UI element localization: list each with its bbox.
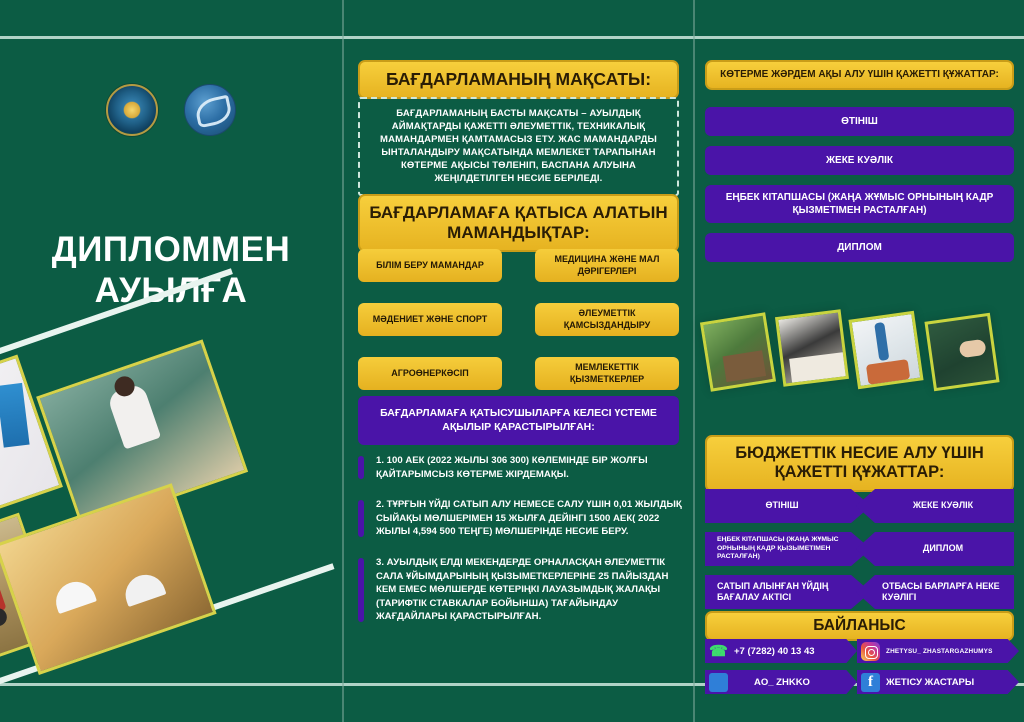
credit-doc-right: ДИПЛОМ <box>856 532 1014 566</box>
bullet-marker <box>358 558 364 622</box>
list-item: 1. 100 АЕК (2022 ЖЫЛЫ 306 300) КӨЛЕМІНДЕ… <box>358 454 683 481</box>
profession-chip: МЕДИЦИНА ЖӘНЕ МАЛ ДӘРІГЕРЛЕРІ <box>535 249 679 282</box>
list-item: ДИПЛОМ <box>705 233 1014 262</box>
cover-photo-collage <box>0 280 342 722</box>
contact-label: ЖЕТІСУ ЖАСТАРЫ <box>886 677 974 688</box>
table-row: ЕҢБЕК КІТАПШАСЫ (ЖАҢА ЖҰМЫС ОРНЫНЫҢ КАДР… <box>705 532 1014 566</box>
benefit-text: 3. АУЫЛДЫҚ ЕЛДІ МЕКЕНДЕРДЕ ОРНАЛАСҚАН ӘЛ… <box>376 557 668 622</box>
heading-credit-documents: БЮДЖЕТТІК НЕСИЕ АЛУ ҮШІН ҚАЖЕТТІ ҚҰЖАТТА… <box>705 435 1014 492</box>
kazakhstan-emblem-logo <box>106 84 158 136</box>
profession-chip: ӘЛЕУМЕТТІК ҚАМСЫЗДАНДЫРУ <box>535 303 679 336</box>
profession-chip-grid: БІЛІМ БЕРУ МАМАНДАР МЕДИЦИНА ЖӘНЕ МАЛ ДӘ… <box>358 249 679 390</box>
list-item: 2. ТҰРҒЫН ҮЙДІ САТЫП АЛУ НЕМЕСЕ САЛУ ҮШІ… <box>358 498 683 539</box>
telegram-icon <box>709 673 728 692</box>
benefit-text: 2. ТҰРҒЫН ҮЙДІ САТЫП АЛУ НЕМЕСЕ САЛУ ҮШІ… <box>376 499 682 537</box>
credit-document-grid: ӨТІНІШ ЖЕКЕ КУӘЛІК ЕҢБЕК КІТАПШАСЫ (ЖАҢА… <box>705 489 1014 618</box>
contact-label: ZHETYSU_ ZHASTARGAZHUMYS <box>886 648 993 655</box>
list-item: ЕҢБЕК КІТАПШАСЫ (ЖАҢА ЖҰМЫС ОРНЫНЫҢ КАДР… <box>705 185 1014 223</box>
photo-doctor-writing <box>848 311 923 390</box>
brochure-page: ДИПЛОММЕН АУЫЛҒА БАҒДАРЛАМАНЫҢ МАҚСАТЫ: … <box>0 0 1024 722</box>
zhetysu-region-logo <box>184 84 236 136</box>
bullet-marker <box>358 456 364 479</box>
contact-label: +7 (7282) 40 13 43 <box>734 646 815 657</box>
benefits-list: 1. 100 АЕК (2022 ЖЫЛЫ 306 300) КӨЛЕМІНДЕ… <box>358 454 683 641</box>
credit-doc-right: ОТБАСЫ БАРЛАРҒА НЕКЕ КУӘЛІГІ <box>856 575 1014 609</box>
page-title: ДИПЛОММЕН АУЫЛҒА <box>0 229 342 312</box>
table-row: САТЫП АЛЫНҒАН ҮЙДІҢ БАҒАЛАУ АКТІСІ ОТБАС… <box>705 575 1014 609</box>
list-item: ЖЕКЕ КУӘЛІК <box>705 146 1014 175</box>
contact-telegram[interactable]: AO_ ZHKKO <box>705 670 857 694</box>
credit-doc-right: ЖЕКЕ КУӘЛІК <box>856 489 1014 523</box>
panel-cover: ДИПЛОММЕН АУЫЛҒА <box>0 39 342 683</box>
table-row: ӨТІНІШ ЖЕКЕ КУӘЛІК <box>705 489 1014 523</box>
facebook-icon: f <box>861 673 880 692</box>
credit-doc-left: ЕҢБЕК КІТАПШАСЫ (ЖАҢА ЖҰМЫС ОРНЫНЫҢ КАДР… <box>705 532 871 566</box>
contact-instagram[interactable]: ZHETYSU_ ZHASTARGAZHUMYS <box>857 639 1019 663</box>
photo-construction-workers <box>0 483 217 675</box>
profession-chip: МӘДЕНИЕТ ЖӘНЕ СПОРТ <box>358 303 502 336</box>
panel-documents-contacts: КӨТЕРМЕ ЖӘРДЕМ АҚЫ АЛУ ҮШІН ҚАЖЕТТІ ҚҰЖА… <box>695 39 1024 683</box>
instagram-icon <box>861 642 880 661</box>
list-item: ӨТІНІШ <box>705 107 1014 136</box>
list-item: 3. АУЫЛДЫҚ ЕЛДІ МЕКЕНДЕРДЕ ОРНАЛАСҚАН ӘЛ… <box>358 556 683 624</box>
heading-subsidy-documents: КӨТЕРМЕ ЖӘРДЕМ АҚЫ АЛУ ҮШІН ҚАЖЕТТІ ҚҰЖА… <box>705 60 1014 90</box>
profession-chip: БІЛІМ БЕРУ МАМАНДАР <box>358 249 502 282</box>
credit-doc-left: ӨТІНІШ <box>705 489 871 523</box>
contact-list: ☎ +7 (7282) 40 13 43 ZHETYSU_ ZHASTARGAZ… <box>705 639 1019 694</box>
photo-office-meeting <box>775 309 849 387</box>
subsidy-document-list: ӨТІНІШ ЖЕКЕ КУӘЛІК ЕҢБЕК КІТАПШАСЫ (ЖАҢА… <box>705 107 1014 272</box>
heading-participant-benefits: БАҒДАРЛАМАҒА ҚАТЫСУШЫЛАРҒА КЕЛЕСІ ҮСТЕМЕ… <box>358 396 679 445</box>
contact-label: AO_ ZHKKO <box>754 677 810 688</box>
logo-group <box>0 84 342 136</box>
heading-program-goal: БАҒДАРЛАМАНЫҢ МАҚСАТЫ: <box>358 60 679 99</box>
photo-village-sign <box>700 312 776 391</box>
photo-chalkboard-hand <box>924 313 999 392</box>
profession-chip: МЕМЛЕКЕТТІК ҚЫЗМЕТКЕРЛЕР <box>535 357 679 390</box>
benefit-text: 1. 100 АЕК (2022 ЖЫЛЫ 306 300) КӨЛЕМІНДЕ… <box>376 455 648 480</box>
bullet-marker <box>358 500 364 537</box>
program-goal-text: БАҒДАРЛАМАНЫҢ БАСТЫ МАҚСАТЫ – АУЫЛДЫҚ АЙ… <box>358 97 679 196</box>
panel-program-info: БАҒДАРЛАМАНЫҢ МАҚСАТЫ: БАҒДАРЛАМАНЫҢ БАС… <box>344 39 693 683</box>
contact-phone[interactable]: ☎ +7 (7282) 40 13 43 <box>705 639 857 663</box>
heading-contacts: БАЙЛАНЫС <box>705 611 1014 641</box>
contact-facebook[interactable]: f ЖЕТІСУ ЖАСТАРЫ <box>857 670 1019 694</box>
credit-doc-left: САТЫП АЛЫНҒАН ҮЙДІҢ БАҒАЛАУ АКТІСІ <box>705 575 871 609</box>
profession-photo-row <box>701 311 1019 389</box>
brand-title-line-1: ДИПЛОММЕН <box>0 229 342 270</box>
profession-chip: АГРОӨНЕРКӘСІП <box>358 357 502 390</box>
heading-eligible-professions: БАҒДАРЛАМАҒА ҚАТЫСА АЛАТЫН МАМАНДЫҚТАР: <box>358 194 679 252</box>
phone-icon: ☎ <box>709 642 728 661</box>
